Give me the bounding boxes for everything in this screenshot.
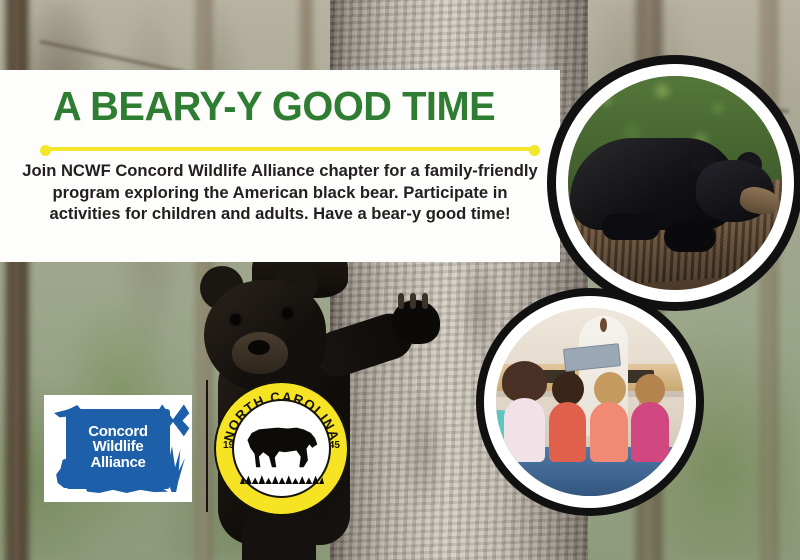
ncwf-seal-year-left: 19 bbox=[223, 440, 234, 451]
ncwf-seal-year-right: 45 bbox=[329, 440, 340, 451]
children-photo-child-head bbox=[594, 372, 626, 406]
children-photo-child bbox=[504, 398, 545, 462]
bear-cub-eye-right bbox=[282, 308, 293, 319]
divider-line bbox=[46, 147, 534, 151]
bear-cub-paw bbox=[392, 300, 440, 344]
concord-logo-plate: Concord Wildlife Alliance bbox=[66, 409, 170, 489]
bear-cub-nose bbox=[248, 340, 270, 355]
children-photo-adult-head bbox=[600, 318, 607, 332]
logo-divider bbox=[206, 380, 208, 512]
divider-dot-right bbox=[529, 145, 540, 156]
bear-cub-eye-left bbox=[230, 314, 241, 325]
children-photo-child-head bbox=[635, 374, 665, 406]
children-photo-child bbox=[590, 402, 628, 462]
children-photo bbox=[496, 308, 684, 496]
bison-icon bbox=[246, 425, 318, 469]
grass-icon bbox=[240, 472, 324, 484]
children-photo-child bbox=[549, 402, 587, 462]
bear-photo-bear-paw bbox=[664, 222, 716, 252]
concord-logo-line-2: Wildlife bbox=[66, 439, 170, 454]
body-text: Join NCWF Concord Wildlife Alliance chap… bbox=[20, 160, 540, 225]
bear-photo bbox=[568, 76, 782, 290]
concord-logo-line-1: Concord bbox=[66, 424, 170, 439]
bear-photo-bear-paw bbox=[602, 214, 660, 240]
page-title: A BEARY-Y GOOD TIME bbox=[8, 86, 540, 127]
ncwf-seal-center bbox=[234, 401, 329, 496]
children-photo-child-head bbox=[552, 372, 584, 406]
children-photo-child bbox=[631, 402, 669, 462]
concord-logo-line-3: Alliance bbox=[66, 455, 170, 470]
title-divider bbox=[40, 145, 540, 152]
concord-wildlife-alliance-logo: Concord Wildlife Alliance bbox=[44, 395, 192, 502]
children-photo-child-head bbox=[502, 361, 547, 402]
ncwf-seal-logo: NORTH CAROLINA WILDLIFE FEDERATION 19 45 bbox=[216, 383, 347, 514]
poster: A BEARY-Y GOOD TIME Join NCWF Concord Wi… bbox=[0, 0, 800, 560]
concord-logo-text: Concord Wildlife Alliance bbox=[66, 424, 170, 470]
